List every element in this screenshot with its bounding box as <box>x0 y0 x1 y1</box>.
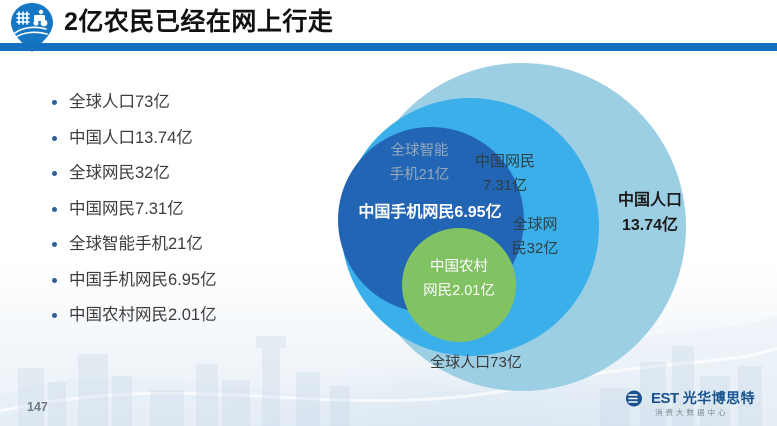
page-title: 2亿农民已经在网上行走 <box>64 5 333 39</box>
venn-label-line: 网民2.01亿 <box>402 279 516 303</box>
venn-label-china-population: 中国人口 13.74亿 <box>575 188 725 238</box>
venn-label-china-rural-netizens: 中国农村 网民2.01亿 <box>402 255 516 303</box>
brand-logo: EST 光华博思特 消费大数据中心 <box>625 388 765 420</box>
list-item: 全球智能手机21亿 <box>52 234 307 254</box>
venn-label-china-netizens: 中国网民 7.31亿 <box>440 150 570 198</box>
best-emblem-icon <box>625 390 649 407</box>
brand-name-en: EST <box>651 390 679 407</box>
venn-diagram: 全球智能 手机21亿 中国手机网民6.95亿 中国网民 7.31亿 全球网 民3… <box>300 50 777 426</box>
venn-label-line: 中国农村 <box>402 255 516 279</box>
slide-canvas: 2亿农民已经在网上行走 全球人口73亿 中国人口13.74亿 全球网民32亿 中… <box>0 0 777 426</box>
list-item: 中国网民7.31亿 <box>52 199 307 219</box>
list-item: 全球人口73亿 <box>52 92 307 112</box>
venn-label-line: 中国网民 <box>440 150 570 174</box>
venn-label-world-netizens: 全球网 民32亿 <box>480 213 590 261</box>
list-item: 中国农村网民2.01亿 <box>52 305 307 325</box>
brand-tagline: 消费大数据中心 <box>655 407 729 418</box>
venn-label-world-population: 全球人口73亿 <box>386 352 566 374</box>
statistics-bullet-list: 全球人口73亿 中国人口13.74亿 全球网民32亿 中国网民7.31亿 全球智… <box>52 92 307 341</box>
venn-label-line: 13.74亿 <box>575 213 725 238</box>
venn-label-line: 中国人口 <box>575 188 725 213</box>
list-item: 中国人口13.74亿 <box>52 128 307 148</box>
list-item: 全球网民32亿 <box>52 163 307 183</box>
slide-header: 2亿农民已经在网上行走 <box>0 0 777 51</box>
venn-label-line: 全球网 <box>480 213 590 237</box>
venn-label-line: 7.31亿 <box>440 174 570 198</box>
page-number: 147 <box>27 400 48 414</box>
list-item: 中国手机网民6.95亿 <box>52 270 307 290</box>
brand-name-cn: 光华博思特 <box>683 388 756 408</box>
